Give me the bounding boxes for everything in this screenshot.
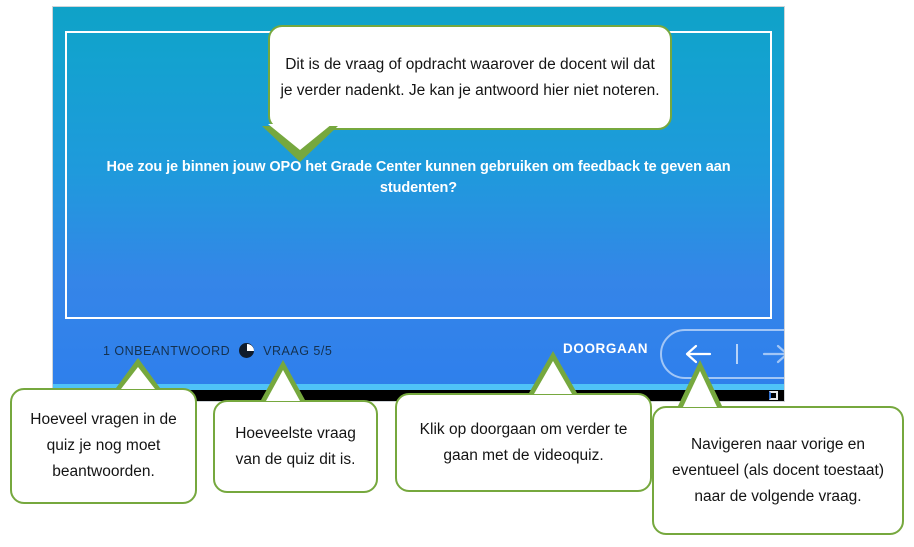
next-question-button[interactable] [738, 331, 785, 377]
callout-navigation: Navigeren naar vorige en eventueel (als … [652, 406, 904, 535]
quiz-control-bar: 1 ONBEANTWOORD VRAAG 5/5 DOORGAAN [53, 327, 784, 383]
callout-continue: Klik op doorgaan om verder te gaan met d… [395, 393, 652, 492]
quiz-question-text: Hoe zou je binnen jouw OPO het Grade Cen… [95, 157, 742, 199]
question-counter-label: VRAAG 5/5 [263, 344, 332, 358]
arrow-right-icon [760, 343, 785, 365]
callout-unanswered: Hoeveel vragen in de quiz je nog moet be… [10, 388, 197, 504]
quiz-status-group: 1 ONBEANTWOORD VRAAG 5/5 [103, 343, 332, 358]
callout-counter: Hoeveelste vraag van de quiz dit is. [213, 400, 378, 493]
callout-question: Dit is de vraag of opdracht waarover de … [268, 25, 672, 130]
pie-chart-icon [239, 343, 254, 358]
unanswered-count-label: 1 ONBEANTWOORD [103, 344, 230, 358]
fullscreen-icon[interactable] [769, 391, 778, 400]
